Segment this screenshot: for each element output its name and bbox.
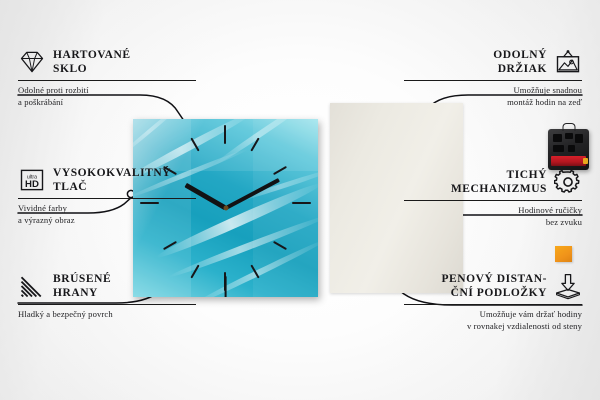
hour-marker (273, 241, 287, 250)
second-hand (225, 276, 227, 297)
hour-marker (224, 125, 226, 144)
clock-mechanism (548, 129, 589, 170)
feature-title: VYSOKOKVALITNÝ TLAČ (53, 166, 171, 194)
diamond-icon (18, 48, 46, 76)
feature-header: HARTOVANÉ SKLO (18, 48, 196, 76)
feature-title: TICHÝ MECHANIZMUS (451, 168, 547, 196)
feature-polished-edges: BRÚSENÉ HRANY Hladký a bezpečný povrch (18, 272, 196, 321)
mechanism-hanger-icon (562, 123, 575, 131)
divider (18, 198, 196, 199)
feature-description: Odolné proti rozbití a poškrábání (18, 85, 196, 109)
ultra-hd-icon: ultra HD (18, 166, 46, 194)
divider (18, 304, 196, 305)
feature-foam-spacers: PENOVÝ DISTAN- ČNÍ PODLOŽKY Umožňuje vám… (404, 272, 582, 333)
feature-tempered-glass: HARTOVANÉ SKLO Odolné proti rozbití a po… (18, 48, 196, 109)
feature-header: PENOVÝ DISTAN- ČNÍ PODLOŽKY (404, 272, 582, 300)
mechanism-detail (568, 145, 575, 152)
hour-marker (273, 166, 287, 175)
picture-frame-hanger-icon (554, 48, 582, 76)
mechanism-detail (553, 134, 562, 142)
clock-hands-hub (223, 206, 228, 211)
mechanism-detail (553, 145, 564, 152)
mechanism-detail (565, 133, 573, 139)
hour-marker (190, 138, 199, 152)
feature-title: BRÚSENÉ HRANY (53, 272, 111, 300)
feature-durable-hanger: ODOLNÝ DRŽIAK Umožňuje snadnou montáž ho… (404, 48, 582, 109)
infographic-stage: HARTOVANÉ SKLO Odolné proti rozbití a po… (0, 0, 600, 400)
battery-plus-terminal (583, 158, 588, 164)
press-down-pad-icon (554, 272, 582, 300)
foam-spacer-pad (555, 246, 572, 262)
feature-description: Hladký a bezpečný povrch (18, 309, 196, 321)
divider (404, 80, 582, 81)
feature-title: HARTOVANÉ SKLO (53, 48, 131, 76)
feature-description: Umožňuje vám držať hodiny v rovnakej vzd… (404, 309, 582, 333)
diagonal-stripes-icon (18, 272, 46, 300)
feature-description: Hodinové ručičky bez zvuku (404, 205, 582, 229)
feature-header: ultra HD VYSOKOKVALITNÝ TLAČ (18, 166, 196, 194)
feature-header: BRÚSENÉ HRANY (18, 272, 196, 300)
feature-silent-mechanism: TICHÝ MECHANIZMUS Hodinové ručičky bez z… (404, 168, 582, 229)
hour-marker (250, 138, 259, 152)
feature-header: ODOLNÝ DRŽIAK (404, 48, 582, 76)
feature-title: ODOLNÝ DRŽIAK (493, 48, 547, 76)
divider (18, 80, 196, 81)
divider (404, 200, 582, 201)
hour-marker (292, 202, 311, 204)
feature-description: Vividné farby a výrazný obraz (18, 203, 196, 227)
feature-description: Umožňuje snadnou montáž hodin na zeď (404, 85, 582, 109)
minute-hand (225, 178, 280, 210)
hour-marker (163, 241, 177, 250)
gear-icon (554, 168, 582, 196)
divider (404, 304, 582, 305)
svg-text:HD: HD (25, 179, 39, 190)
feature-high-quality-print: ultra HD VYSOKOKVALITNÝ TLAČ Vividné far… (18, 166, 196, 227)
feature-header: TICHÝ MECHANIZMUS (404, 168, 582, 196)
feature-title: PENOVÝ DISTAN- ČNÍ PODLOŽKY (441, 272, 547, 300)
battery (551, 156, 586, 166)
hour-marker (250, 265, 259, 279)
mechanism-detail (575, 134, 583, 143)
